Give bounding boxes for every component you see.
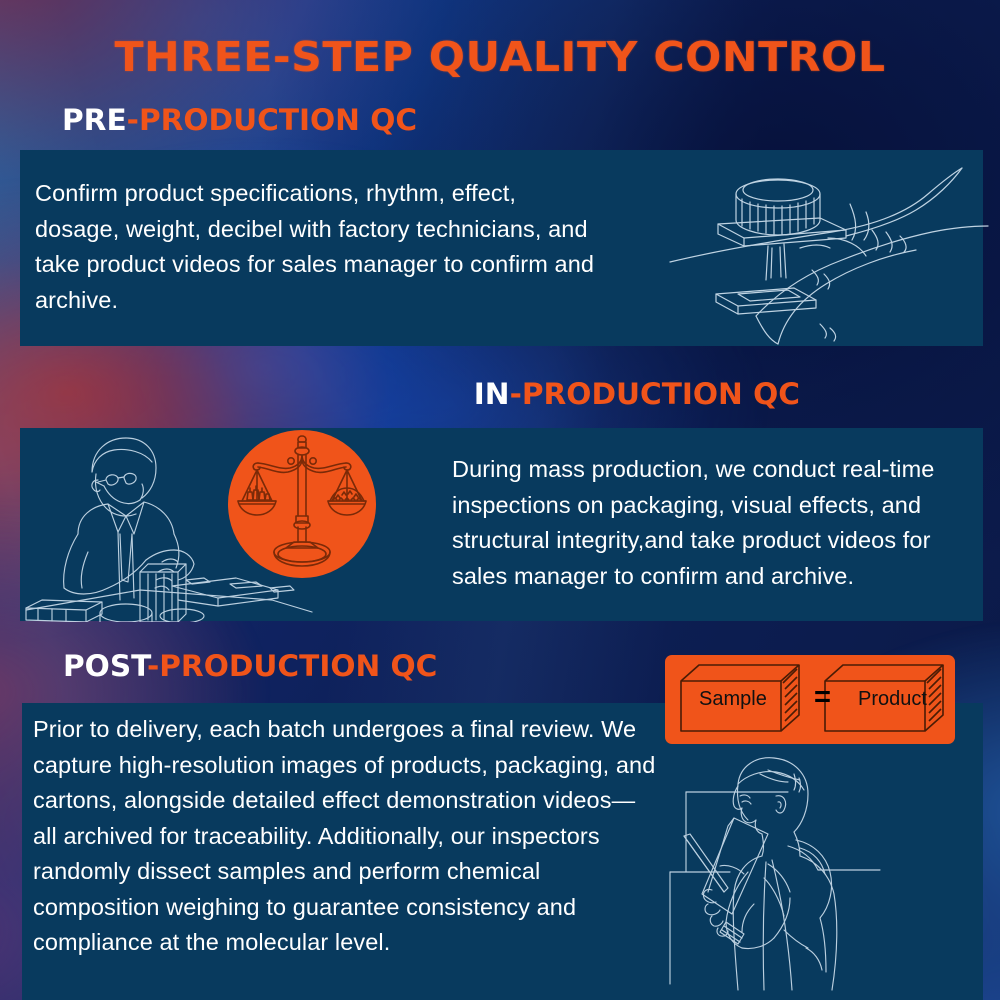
infographic-canvas: THREE-STEP QUALITY CONTROL PRE-PRODUCTIO… — [0, 0, 1000, 1000]
inspector-with-clipboard-icon — [668, 752, 918, 992]
equals-operator: = — [814, 681, 831, 714]
hand-holding-product-icon — [660, 152, 990, 346]
product-box-label: Product — [858, 688, 927, 711]
balance-scale-icon — [228, 430, 376, 578]
section-heading-pre-production-white: PRE — [62, 103, 127, 137]
section-heading-in-production: IN-PRODUCTION QC — [474, 377, 800, 411]
body-text-post-production: Prior to delivery, each batch undergoes … — [33, 712, 658, 961]
body-text-pre-production: Confirm product specifications, rhythm, … — [35, 176, 595, 318]
sample-equals-product-badge: Sample = Product — [665, 655, 955, 744]
section-heading-in-production-orange: -PRODUCTION QC — [510, 377, 800, 411]
sample-box-label: Sample — [699, 688, 767, 711]
section-heading-in-production-white: IN — [474, 377, 510, 411]
balance-scale-badge — [228, 430, 376, 578]
page-title: THREE-STEP QUALITY CONTROL — [0, 33, 1000, 81]
section-heading-pre-production: PRE-PRODUCTION QC — [62, 103, 417, 137]
section-heading-pre-production-orange: -PRODUCTION QC — [127, 103, 417, 137]
body-text-in-production: During mass production, we conduct real-… — [452, 452, 982, 594]
section-heading-post-production-orange: -PRODUCTION QC — [147, 649, 437, 683]
section-heading-post-production: POST-PRODUCTION QC — [63, 649, 437, 683]
section-heading-post-production-white: POST — [63, 649, 147, 683]
